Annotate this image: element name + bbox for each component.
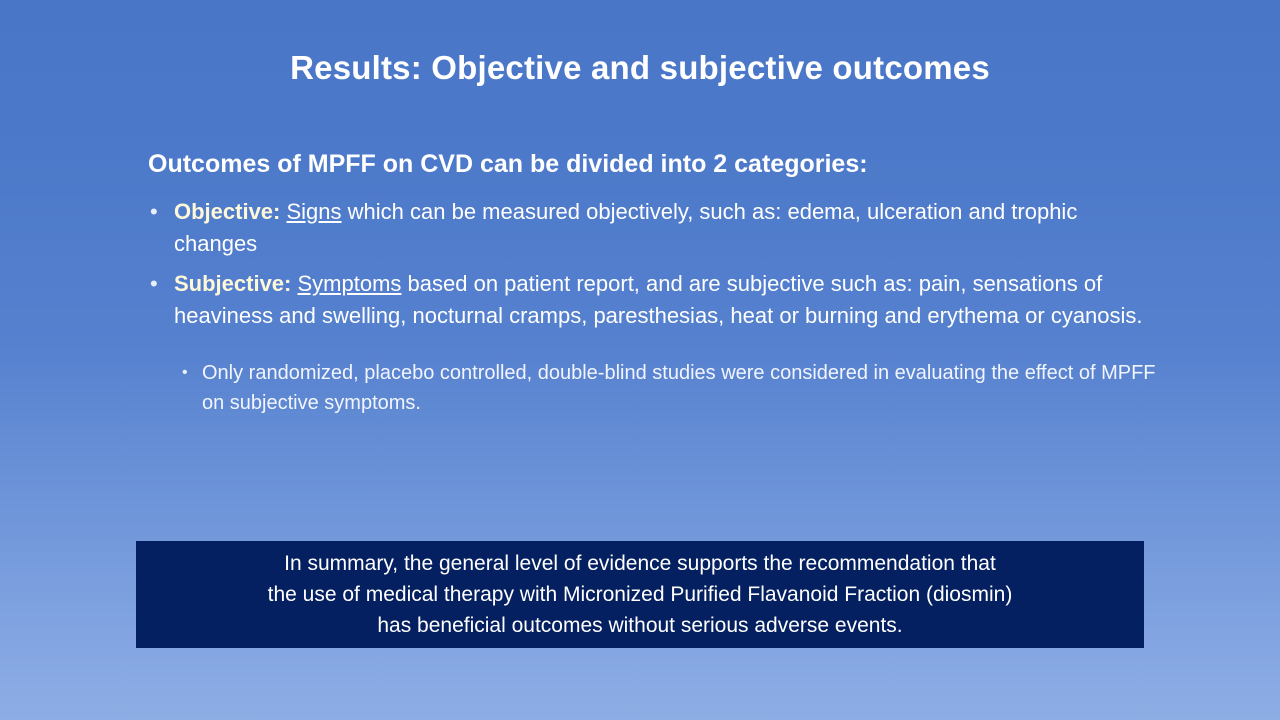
bullet-text-objective: Objective: Signs which can be measured o… xyxy=(174,196,1158,260)
sub-bullet-item-methodology: • Only randomized, placebo controlled, d… xyxy=(180,358,1158,418)
lead-statement: Outcomes of MPFF on CVD can be divided i… xyxy=(148,148,1158,180)
bullet-marker-icon: • xyxy=(148,196,174,228)
sub-bullet-marker-icon: • xyxy=(180,358,202,388)
bullet-text-subjective: Subjective: Symptoms based on patient re… xyxy=(174,268,1158,332)
bullet-item-subjective: • Subjective: Symptoms based on patient … xyxy=(148,268,1158,332)
slide-title: Results: Objective and subjective outcom… xyxy=(0,48,1280,88)
bullet-label-objective: Objective: xyxy=(174,199,280,224)
bullet-term-signs: Signs xyxy=(287,199,342,224)
summary-line: the use of medical therapy with Microniz… xyxy=(150,579,1130,610)
sub-bullet-text: Only randomized, placebo controlled, dou… xyxy=(202,358,1158,418)
presentation-slide: Results: Objective and subjective outcom… xyxy=(0,0,1280,720)
bullet-term-symptoms: Symptoms xyxy=(298,271,402,296)
summary-callout-box: In summary, the general level of evidenc… xyxy=(136,541,1144,648)
summary-text: In summary, the general level of evidenc… xyxy=(136,548,1144,641)
bullet-marker-icon: • xyxy=(148,268,174,300)
bullet-label-subjective: Subjective: xyxy=(174,271,291,296)
summary-line: In summary, the general level of evidenc… xyxy=(150,548,1130,579)
bullet-item-objective: • Objective: Signs which can be measured… xyxy=(148,196,1158,260)
summary-line: has beneficial outcomes without serious … xyxy=(150,610,1130,641)
slide-body: Outcomes of MPFF on CVD can be divided i… xyxy=(148,148,1158,418)
